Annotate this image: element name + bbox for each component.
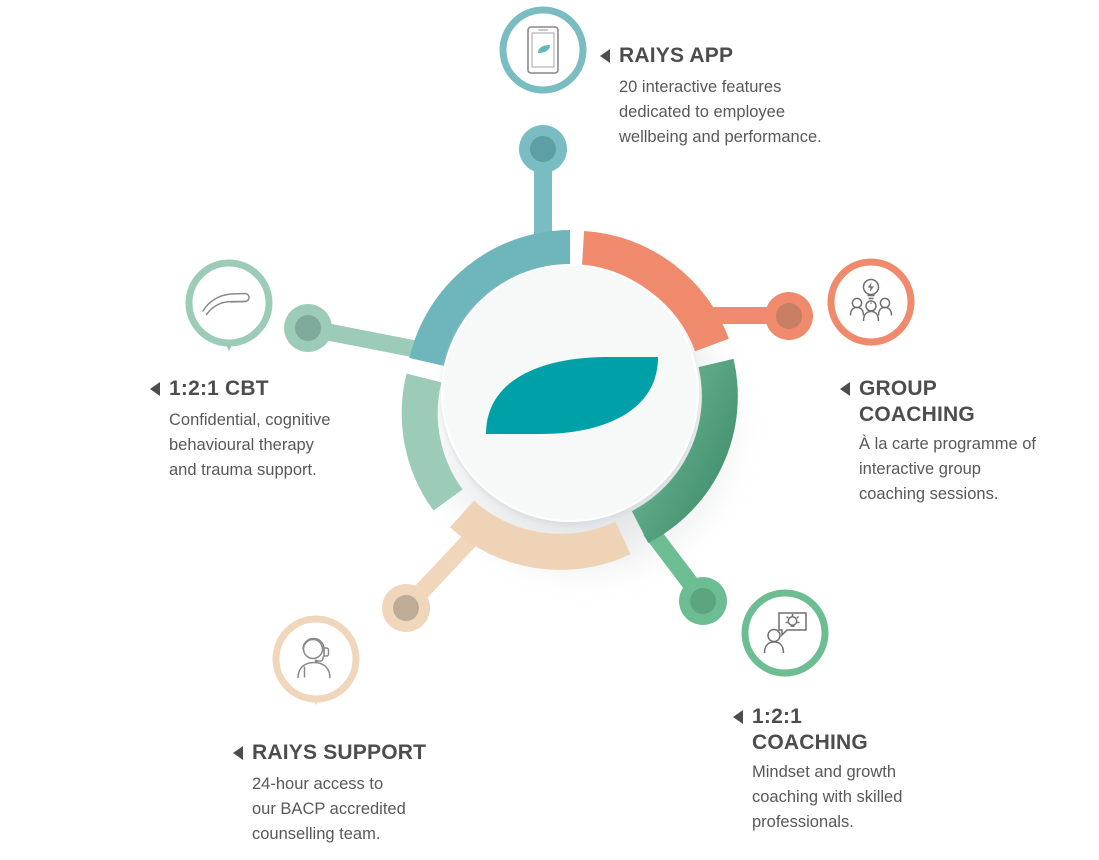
leaf-logo-icon xyxy=(486,357,658,434)
callout-raiys-support: RAIYS SUPPORT 24-hour access to our BACP… xyxy=(233,740,513,847)
callout-title-group-coaching: GROUP COACHING xyxy=(859,376,975,428)
ring-segment-support xyxy=(462,514,623,552)
arrow-left-icon xyxy=(233,746,243,760)
open-hand-icon xyxy=(183,257,275,349)
connector-raiys-support xyxy=(382,540,470,632)
callout-one-two-one-cbt: 1:2:1 CBT Confidential, cognitive behavi… xyxy=(150,376,410,483)
connector-one-two-one-coaching xyxy=(650,530,727,625)
connector-one-two-one-cbt xyxy=(284,304,420,352)
callout-head-group-coaching: GROUP COACHING xyxy=(840,376,1090,428)
ring-segment-app xyxy=(427,248,570,362)
person-idea-bubble-icon xyxy=(739,587,831,679)
hub-disc xyxy=(441,265,699,525)
arrow-left-icon xyxy=(600,49,610,63)
headset-person-icon xyxy=(270,613,362,705)
smartphone-leaf-icon xyxy=(497,4,589,96)
callout-title-raiys-app: RAIYS APP xyxy=(619,43,733,69)
pin-raiys-app[interactable] xyxy=(497,4,589,96)
callout-group-coaching: GROUP COACHING À la carte programme of i… xyxy=(840,376,1090,507)
arrow-left-icon xyxy=(840,382,850,396)
callout-raiys-app: RAIYS APP 20 interactive features dedica… xyxy=(600,43,900,150)
callout-one-two-one-coaching: 1:2:1 COACHING Mindset and growth coachi… xyxy=(733,704,983,835)
callout-head-one-two-one-coaching: 1:2:1 COACHING xyxy=(733,704,983,756)
pin-one-two-one-coaching[interactable] xyxy=(739,587,831,679)
connector-raiys-app xyxy=(519,125,567,280)
arrow-left-icon xyxy=(150,382,160,396)
callout-head-raiys-app: RAIYS APP xyxy=(600,43,900,69)
callout-title-one-two-one-coaching: 1:2:1 COACHING xyxy=(752,704,868,756)
group-lightbulb-icon xyxy=(825,256,917,348)
service-ring xyxy=(420,248,720,552)
callout-body-group-coaching: À la carte programme of interactive grou… xyxy=(859,432,1090,507)
pin-group-coaching[interactable] xyxy=(825,256,917,348)
callout-head-raiys-support: RAIYS SUPPORT xyxy=(233,740,513,766)
pin-raiys-support[interactable] xyxy=(270,613,362,705)
ring-segment-coaching xyxy=(640,363,720,527)
callout-body-one-two-one-coaching: Mindset and growth coaching with skilled… xyxy=(752,760,983,835)
ring-segment-cbt xyxy=(420,378,448,500)
callout-body-raiys-app: 20 interactive features dedicated to emp… xyxy=(619,75,900,150)
ring-segment-group-coaching xyxy=(583,249,712,345)
arrow-left-icon xyxy=(733,710,743,724)
wellbeing-services-diagram: RAIYS APP 20 interactive features dedica… xyxy=(0,0,1099,860)
pin-one-two-one-cbt[interactable] xyxy=(183,257,275,349)
callout-body-raiys-support: 24-hour access to our BACP accredited co… xyxy=(252,772,513,847)
callout-body-one-two-one-cbt: Confidential, cognitive behavioural ther… xyxy=(169,408,410,483)
connector-group-coaching xyxy=(690,292,813,340)
callout-title-raiys-support: RAIYS SUPPORT xyxy=(252,740,426,766)
callout-head-one-two-one-cbt: 1:2:1 CBT xyxy=(150,376,410,402)
callout-title-one-two-one-cbt: 1:2:1 CBT xyxy=(169,376,269,402)
hub-shadow xyxy=(420,270,750,590)
